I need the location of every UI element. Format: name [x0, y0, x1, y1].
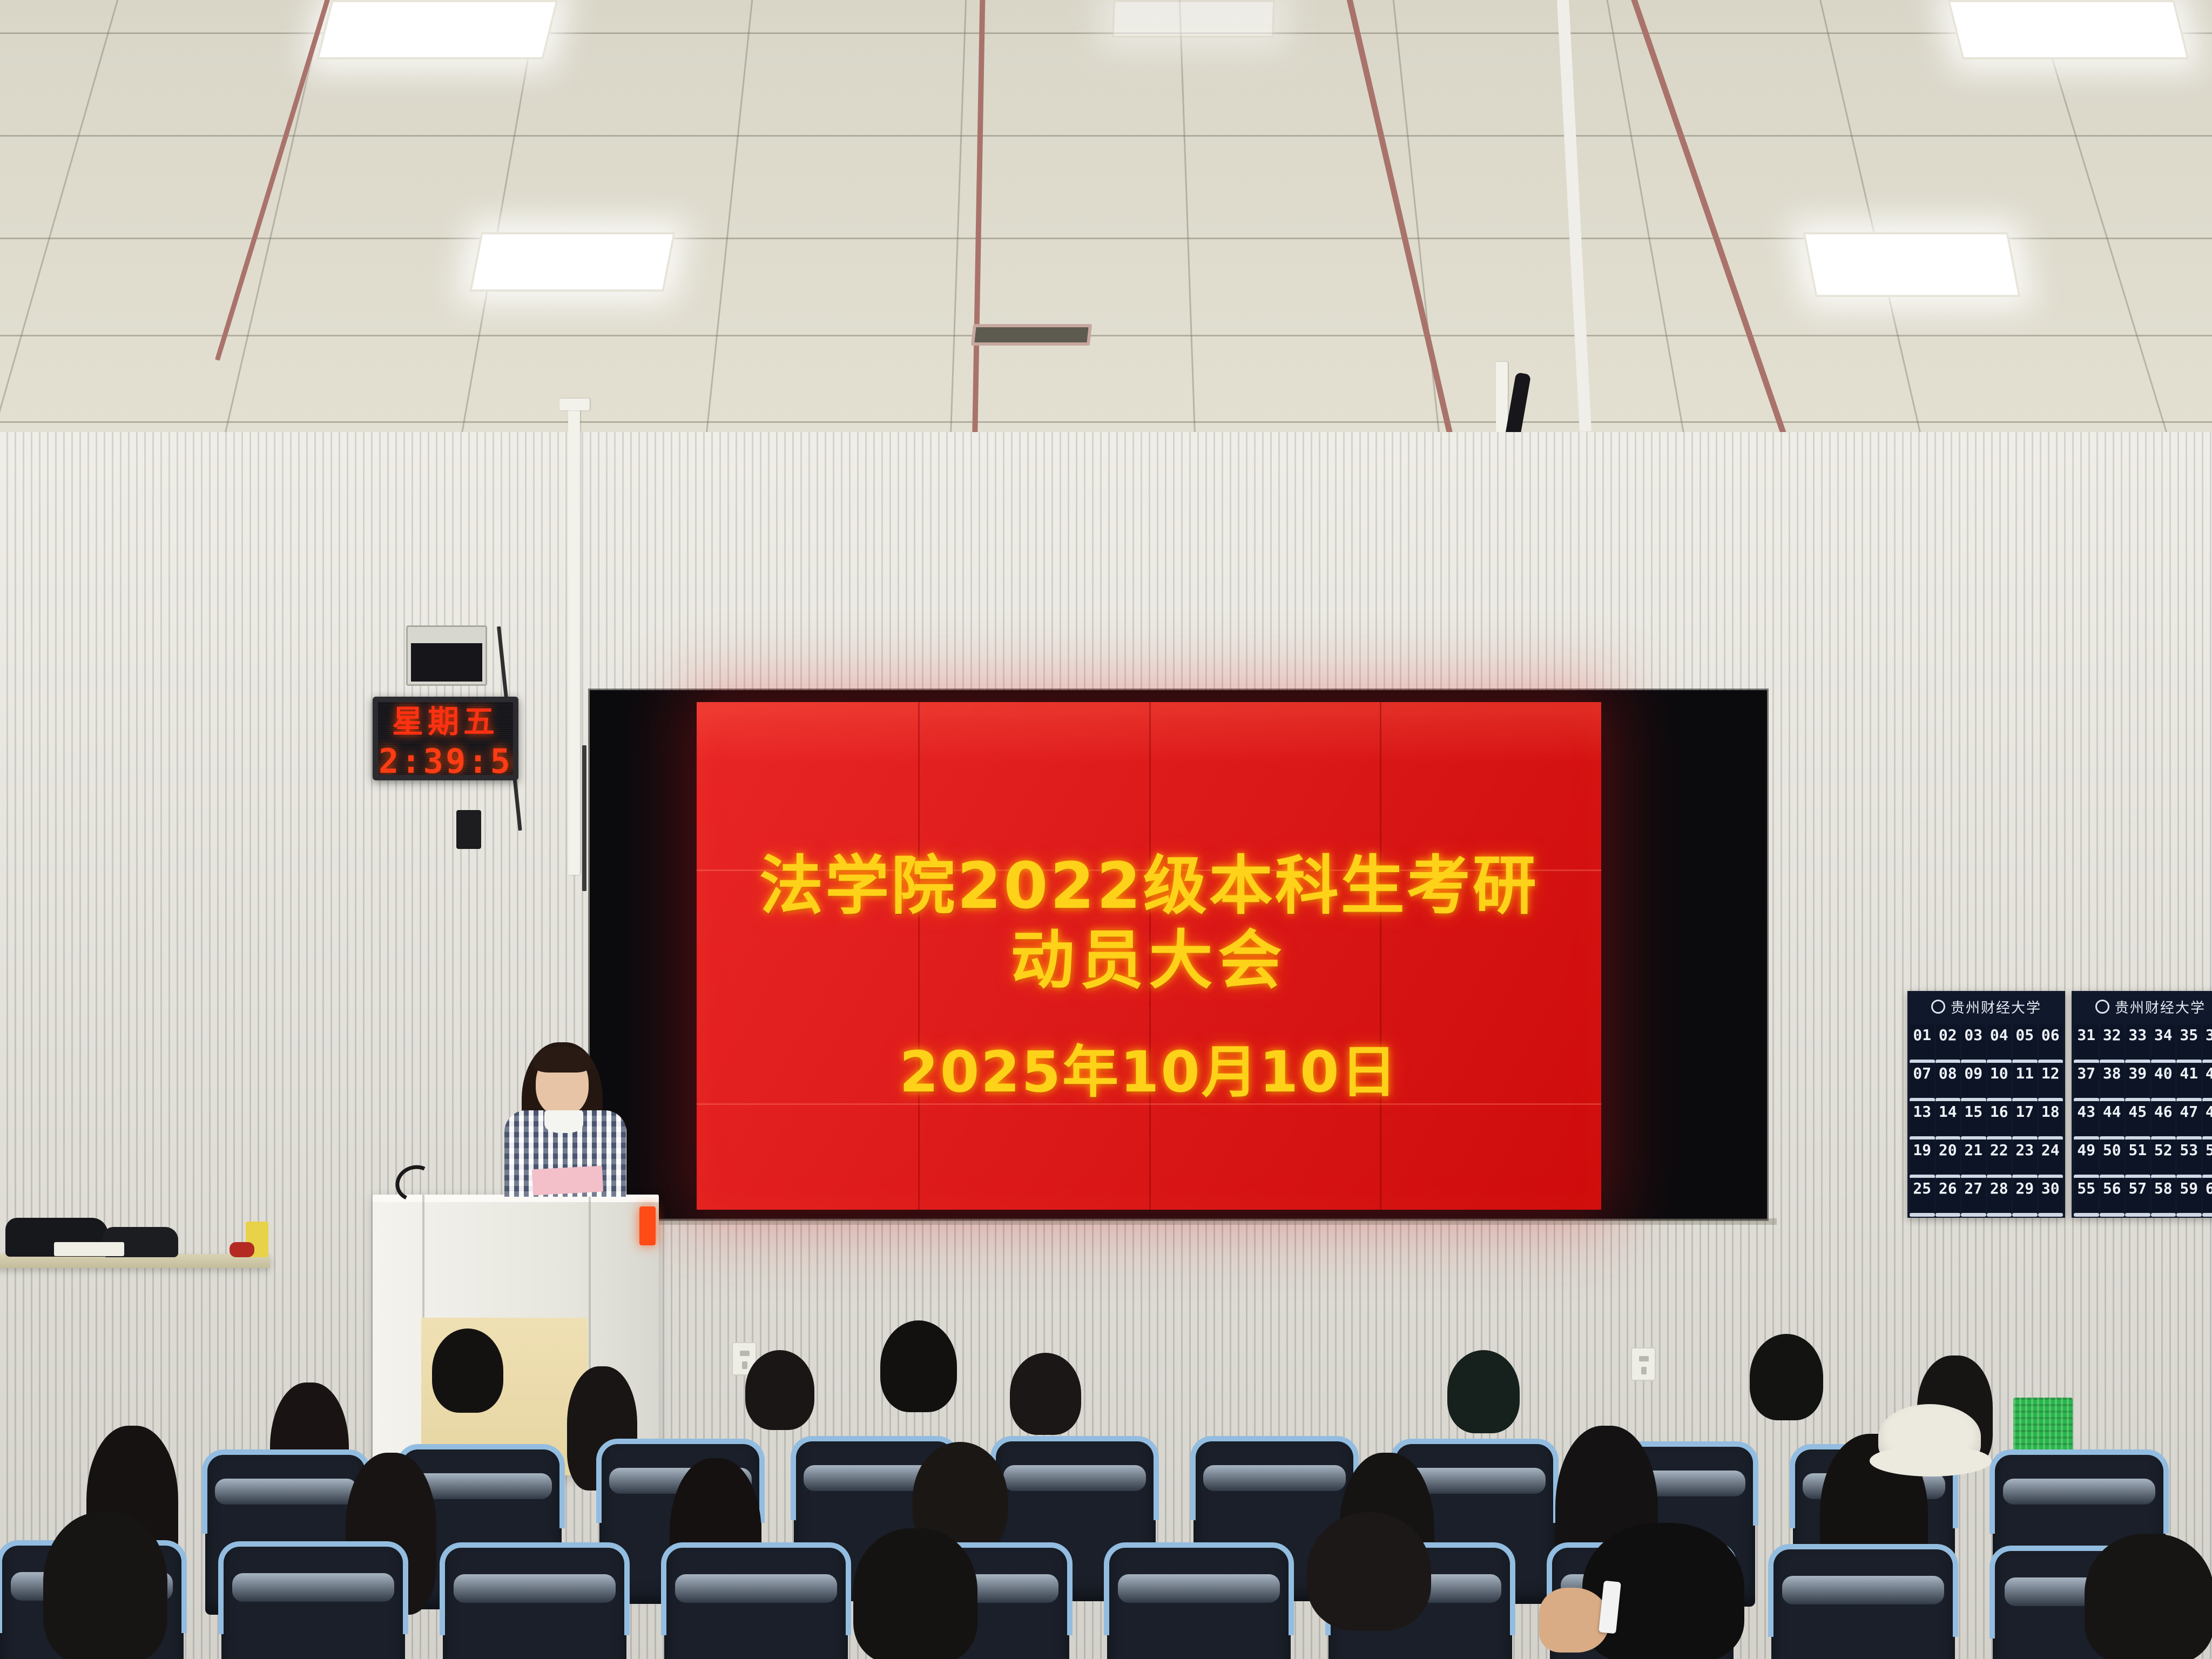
phone-pocket-cell[interactable]: 20	[1936, 1139, 1960, 1176]
ceiling-light-panel	[469, 232, 675, 292]
hair	[1307, 1512, 1431, 1631]
pocket-grid-left: 0102030405060708091011121314151617181920…	[1907, 1022, 2065, 1218]
phone-pocket-cell[interactable]: 09	[1961, 1063, 1986, 1100]
phone-pocket-cell[interactable]: 27	[1961, 1178, 1986, 1215]
wall-bracket	[456, 810, 481, 849]
phone-pocket-cell[interactable]: 43	[2074, 1101, 2099, 1138]
phone-pocket-cell[interactable]: 16	[1987, 1101, 2012, 1138]
led-title-line-2: 动员大会	[697, 908, 1601, 1001]
phone-pocket-board-right: 贵州财经大学 313233343536373839404142434445464…	[2072, 991, 2212, 1218]
phone-pocket-cell[interactable]: 05	[2013, 1024, 2037, 1061]
phone-pocket-cell[interactable]: 54	[2203, 1139, 2212, 1176]
phone-pocket-cell[interactable]: 13	[1910, 1101, 1934, 1138]
ceiling-light-panel	[1947, 0, 2189, 59]
ceiling-light-panel	[1112, 0, 1275, 38]
hair	[853, 1528, 977, 1659]
ceiling-light-panel	[1803, 232, 2020, 297]
auditorium-seat[interactable]	[1107, 1546, 1291, 1659]
phone-pocket-cell[interactable]: 55	[2074, 1178, 2099, 1215]
phone-pocket-cell[interactable]: 58	[2152, 1178, 2176, 1215]
phone-pocket-cell[interactable]: 49	[2074, 1139, 2099, 1176]
phone-pocket-cell[interactable]: 42	[2203, 1063, 2212, 1100]
hair	[880, 1320, 957, 1412]
stage-floor-edge	[643, 1218, 1777, 1225]
phone-pocket-cell[interactable]: 26	[1936, 1178, 1960, 1215]
phone-pocket-board-left: 贵州财经大学 010203040506070809101112131415161…	[1907, 991, 2065, 1218]
hair	[43, 1512, 167, 1659]
phone-pocket-cell[interactable]: 19	[1910, 1139, 1934, 1176]
phone-pocket-cell[interactable]: 45	[2126, 1101, 2150, 1138]
phone-pocket-cell[interactable]: 33	[2126, 1024, 2150, 1061]
shelf-red-object	[230, 1242, 254, 1257]
phone-pocket-cell[interactable]: 15	[1961, 1101, 1986, 1138]
phone-pocket-cell[interactable]: 04	[1987, 1024, 2012, 1061]
presenter	[502, 1042, 664, 1204]
phone-pocket-cell[interactable]: 25	[1910, 1178, 1934, 1215]
pole-bracket	[559, 399, 590, 410]
phone-pocket-cell[interactable]: 32	[2100, 1024, 2125, 1061]
hair	[1750, 1334, 1823, 1420]
pocket-board-header: 贵州财经大学	[1907, 991, 2065, 1022]
lectern-power-indicator	[639, 1206, 656, 1245]
auditorium-seat[interactable]	[664, 1546, 848, 1659]
phone-pocket-cell[interactable]: 51	[2126, 1139, 2150, 1176]
phone-pocket-cell[interactable]: 30	[2039, 1178, 2063, 1215]
shelf-paper	[54, 1242, 124, 1256]
clock-weekday: 星期五	[392, 697, 499, 741]
lecture-hall-photo: 星期五 12:39:54 法学院2022级本科生考研 动员大会 2025年10月…	[0, 0, 2212, 1659]
pocket-board-title: 贵州财经大学	[2115, 997, 2206, 1017]
phone-pocket-cell[interactable]: 50	[2100, 1139, 2125, 1176]
phone-pocket-cell[interactable]: 31	[2074, 1024, 2099, 1061]
hair	[432, 1328, 503, 1413]
phone-pocket-cell[interactable]: 12	[2039, 1063, 2063, 1100]
pole-cable	[582, 745, 586, 891]
hair	[1447, 1350, 1520, 1433]
university-logo-icon	[2095, 1000, 2109, 1014]
phone-pocket-cell[interactable]: 01	[1910, 1024, 1934, 1061]
led-display-wall[interactable]: 法学院2022级本科生考研 动员大会 2025年10月10日	[697, 702, 1601, 1210]
phone-pocket-cell[interactable]: 60	[2203, 1178, 2212, 1215]
control-box-display	[411, 643, 482, 682]
ceiling-vent	[971, 324, 1092, 346]
phone-pocket-cell[interactable]: 24	[2039, 1139, 2063, 1176]
auditorium-seat[interactable]	[443, 1546, 626, 1659]
pocket-board-title: 贵州财经大学	[1951, 997, 2041, 1017]
phone-pocket-cell[interactable]: 37	[2074, 1063, 2099, 1100]
phone-pocket-cell[interactable]: 29	[2013, 1178, 2037, 1215]
presenter-collar	[544, 1110, 583, 1133]
hair	[745, 1350, 814, 1430]
phone-pocket-cell[interactable]: 14	[1936, 1101, 1960, 1138]
phone-pocket-cell[interactable]: 38	[2100, 1063, 2125, 1100]
phone-pocket-cell[interactable]: 07	[1910, 1063, 1934, 1100]
phone-pocket-cell[interactable]: 59	[2177, 1178, 2201, 1215]
hat-brim	[1870, 1445, 1992, 1476]
phone-pocket-cell[interactable]: 48	[2203, 1101, 2212, 1138]
phone-pocket-cell[interactable]: 36	[2203, 1024, 2212, 1061]
auditorium-seat[interactable]	[221, 1545, 405, 1659]
phone-pocket-cell[interactable]: 40	[2152, 1063, 2176, 1100]
ceiling	[0, 0, 2212, 448]
phone-pocket-cell[interactable]: 18	[2039, 1101, 2063, 1138]
ceiling-drop-pole-left	[568, 400, 580, 875]
phone-pocket-cell[interactable]: 53	[2177, 1139, 2201, 1176]
phone-pocket-cell[interactable]: 56	[2100, 1178, 2125, 1215]
pocket-grid-right: 3132333435363738394041424344454647484950…	[2072, 1022, 2212, 1218]
phone-pocket-cell[interactable]: 39	[2126, 1063, 2150, 1100]
phone-pocket-cell[interactable]: 11	[2013, 1063, 2037, 1100]
led-wall-clock: 星期五 12:39:54	[373, 697, 518, 780]
ceiling-tile-grid	[0, 0, 2212, 448]
hair	[1010, 1353, 1081, 1435]
phone-pocket-cell[interactable]: 44	[2100, 1101, 2125, 1138]
phone-pocket-cell[interactable]: 46	[2152, 1101, 2176, 1138]
phone-pocket-cell[interactable]: 34	[2152, 1024, 2176, 1061]
wall-outlet	[1631, 1347, 1656, 1381]
phone-pocket-cell[interactable]: 08	[1936, 1063, 1960, 1100]
phone-pocket-cell[interactable]: 02	[1936, 1024, 1960, 1061]
phone-pocket-cell[interactable]: 21	[1961, 1139, 1986, 1176]
pocket-board-header: 贵州财经大学	[2072, 991, 2212, 1022]
projector-drop-pole	[1496, 362, 1508, 432]
phone-pocket-cell[interactable]: 35	[2177, 1024, 2201, 1061]
ceiling-light-panel	[316, 0, 558, 59]
wall-control-box	[406, 625, 487, 686]
phone-pocket-cell[interactable]: 23	[2013, 1139, 2037, 1176]
phone-pocket-cell[interactable]: 52	[2152, 1139, 2176, 1176]
phone-pocket-cell[interactable]: 28	[1987, 1178, 2012, 1215]
hand	[1539, 1588, 1609, 1653]
phone-pocket-cell[interactable]: 57	[2126, 1178, 2150, 1215]
led-date-line: 2025年10月10日	[697, 1026, 1601, 1108]
phone-pocket-cell[interactable]: 10	[1987, 1063, 2012, 1100]
phone-pocket-cell[interactable]: 17	[2013, 1101, 2037, 1138]
university-logo-icon	[1931, 1000, 1945, 1014]
phone-pocket-cell[interactable]: 22	[1987, 1139, 2012, 1176]
presenter-documents	[532, 1166, 603, 1196]
clock-time: 12:39:54	[373, 741, 518, 780]
phone-pocket-cell[interactable]: 06	[2039, 1024, 2063, 1061]
presenter-hair-fringe	[534, 1047, 591, 1073]
hair	[2085, 1534, 2212, 1659]
phone-pocket-cell[interactable]: 47	[2177, 1101, 2201, 1138]
phone-pocket-cell[interactable]: 03	[1961, 1024, 1986, 1061]
auditorium-seat[interactable]	[1771, 1547, 1955, 1659]
phone-pocket-cell[interactable]: 41	[2177, 1063, 2201, 1100]
